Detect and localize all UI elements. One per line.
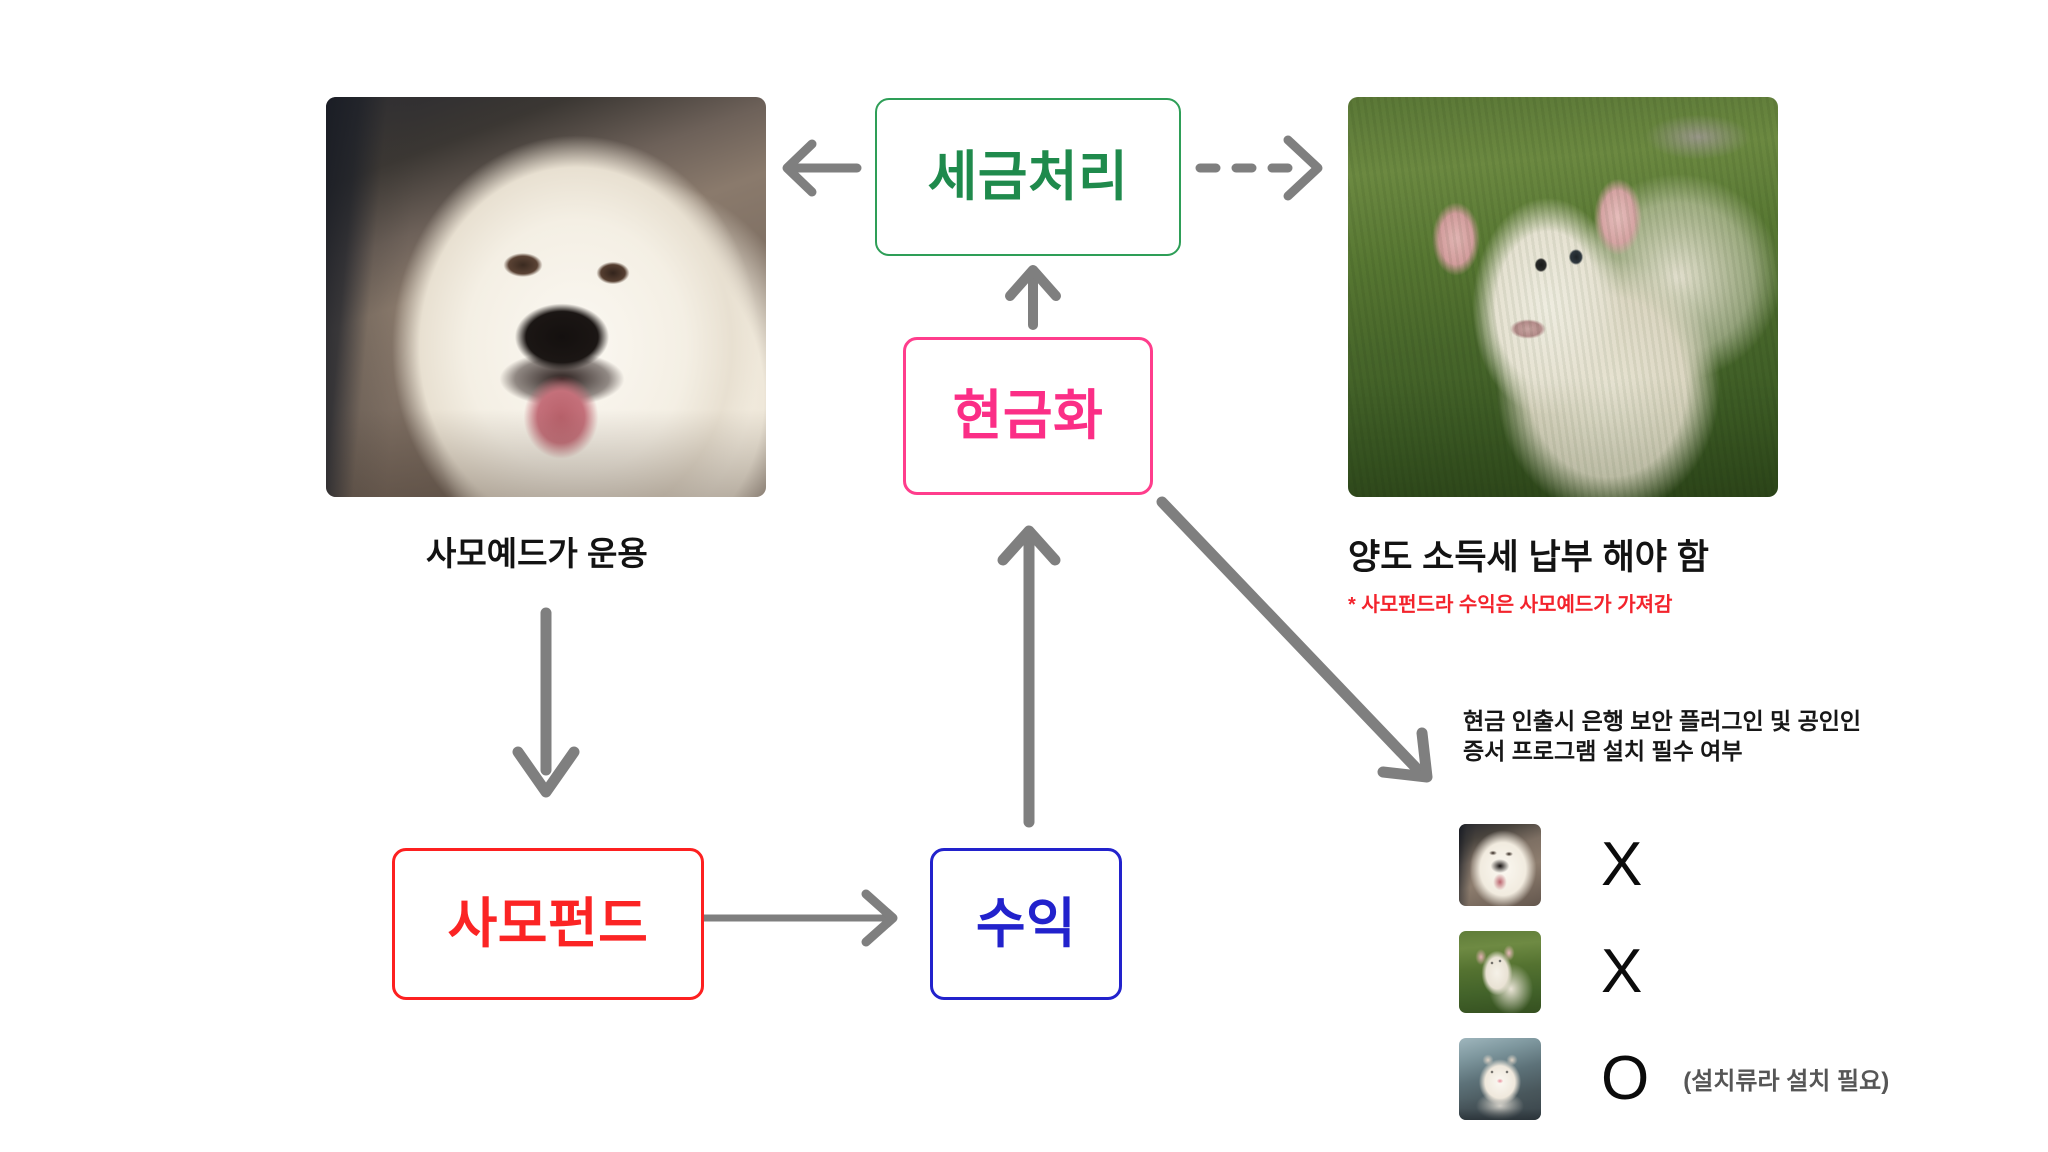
samoyed-dog-photo (326, 97, 766, 497)
caption-fund-profit-note: * 사모펀드라 수익은 사모예드가 가져감 (1348, 588, 1672, 617)
status-mark: O (1601, 1048, 1649, 1110)
arrow-tax-to-dog (787, 144, 857, 192)
arrow-fund-to-profit (704, 894, 893, 942)
diagram-canvas: 세금처리 현금화 사모펀드 수익 사모예드가 운용 양도 소득세 납부 해야 함… (0, 0, 2048, 1152)
samoyed-dog-thumb (1459, 824, 1541, 906)
caption-dog-operates: 사모예드가 운용 (426, 527, 648, 575)
checklist-row: X (1459, 812, 1979, 917)
arrow-profit-to-cash (1003, 531, 1055, 822)
checklist-row: O (설치류라 설치 필요) (1459, 1026, 1979, 1131)
node-private-fund[interactable]: 사모펀드 (392, 848, 704, 1000)
sheep-lamb-photo (1348, 97, 1778, 497)
status-mark: X (1601, 834, 1642, 896)
caption-bank-plugin-requirement: 현금 인출시 은행 보안 플러그인 및 공인인증서 프로그램 설치 필수 여부 (1463, 706, 1863, 767)
checklist-row: X (1459, 919, 1979, 1024)
arrow-cash-to-tax (1010, 270, 1056, 325)
hamster-thumb (1459, 1038, 1541, 1120)
status-note: (설치류라 설치 필요) (1683, 1061, 1889, 1096)
arrow-tax-to-sheep-dashed (1200, 140, 1318, 196)
status-mark: X (1601, 941, 1642, 1003)
arrow-dog-to-fund (518, 613, 574, 792)
install-requirement-checklist: X X O (설치류라 설치 필요) (1459, 812, 1979, 1133)
node-cash-out[interactable]: 현금화 (903, 337, 1153, 495)
caption-capital-gains-tax: 양도 소득세 납부 해야 함 (1348, 529, 1709, 580)
node-tax-processing[interactable]: 세금처리 (875, 98, 1181, 256)
node-profit[interactable]: 수익 (930, 848, 1122, 1000)
sheep-lamb-thumb (1459, 931, 1541, 1013)
